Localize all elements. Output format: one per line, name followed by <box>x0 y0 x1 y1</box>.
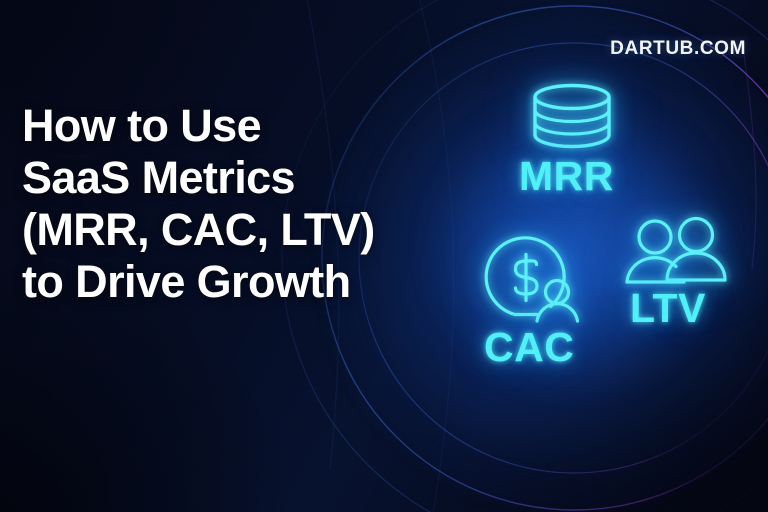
promo-banner: DARTUB.COM How to Use SaaS Metrics (MRR,… <box>0 0 768 512</box>
metric-label-ltv: LTV <box>630 288 706 329</box>
page-title: How to Use SaaS Metrics (MRR, CAC, LTV) … <box>22 100 422 308</box>
metric-label-mrr: MRR <box>519 156 614 197</box>
title-line-3: (MRR, CAC, LTV) <box>22 204 422 256</box>
title-line-2: SaaS Metrics <box>22 152 422 204</box>
title-line-4: to Drive Growth <box>22 256 422 308</box>
metric-cac: CAC <box>470 228 630 378</box>
brand-watermark: DARTUB.COM <box>610 38 746 60</box>
metric-ltv: LTV <box>618 218 758 340</box>
database-cylinder-icon <box>531 84 613 148</box>
two-people-icon <box>624 218 730 288</box>
metric-label-cac: CAC <box>484 327 574 368</box>
title-line-1: How to Use <box>22 100 422 152</box>
metric-mrr: MRR <box>505 84 655 209</box>
dollar-circle-person-icon <box>474 228 596 324</box>
